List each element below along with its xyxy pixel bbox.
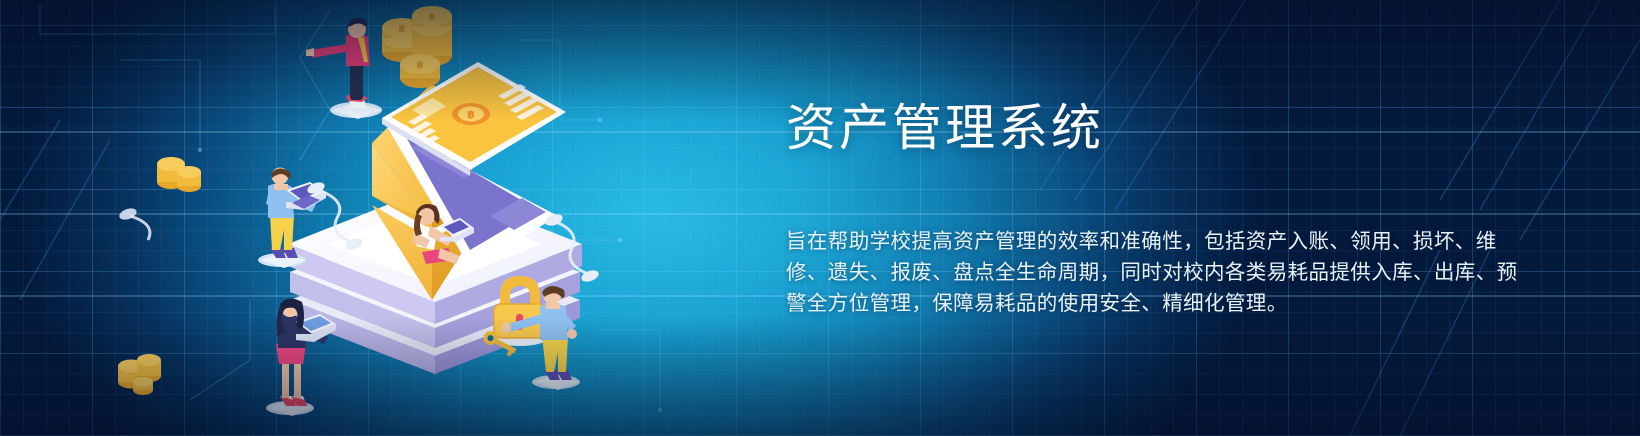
- asset-management-banner: ฿ ฿: [0, 0, 1640, 436]
- description-line-2: 修、遗失、报废、盘点全生命周期，同时对校内各类易耗品提供入库、出库、预: [786, 257, 1462, 288]
- description-line-3: 警全方位管理，保障易耗品的使用安全、精细化管理。: [786, 288, 1462, 319]
- coin-stack-mid: [157, 157, 201, 192]
- description-line-1: 旨在帮助学校提高资产管理的效率和准确性，包括资产入账、领用、损坏、维: [786, 226, 1462, 257]
- page-title: 资产管理系统: [786, 99, 1104, 157]
- banner-text-block: 资产管理系统 旨在帮助学校提高资产管理的效率和准确性，包括资产入账、领用、损坏、…: [786, 0, 1506, 436]
- connector-wire-left: [118, 206, 150, 240]
- banner-description: 旨在帮助学校提高资产管理的效率和准确性，包括资产入账、领用、损坏、维 修、遗失、…: [786, 226, 1462, 319]
